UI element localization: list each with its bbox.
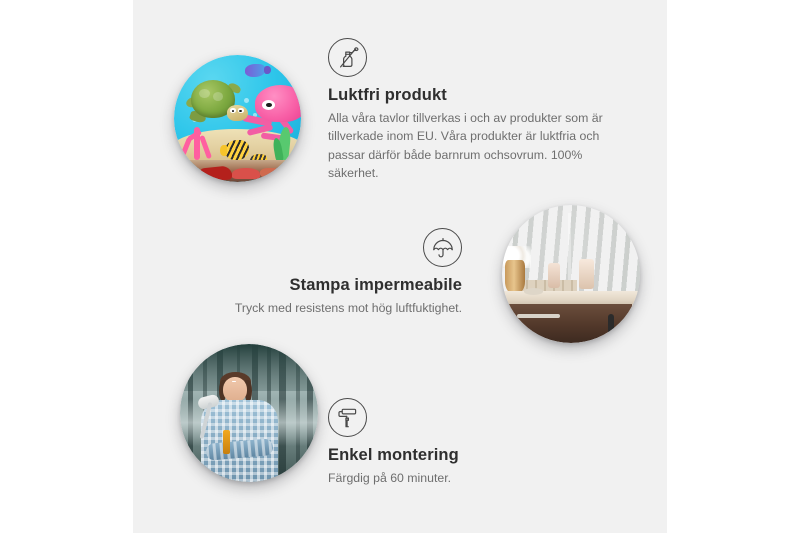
feature-stampa-impermeabile: Stampa impermeabile Tryck med resistens … — [212, 228, 462, 317]
sea-floor-object — [199, 165, 233, 182]
wood-vanity-cabinet — [508, 304, 632, 343]
feature-description: Färgdig på 60 minuter. — [328, 469, 588, 487]
screenshot-root: Luktfri produkt Alla våra tavlor tillver… — [0, 0, 800, 533]
face — [223, 377, 247, 403]
bathroom-vanity-photo-inner — [502, 205, 640, 343]
woman-paint-roller-forest-photo-inner — [180, 344, 318, 482]
smile — [232, 381, 235, 382]
turtle-eye — [238, 108, 243, 113]
sea-turtle — [188, 80, 246, 128]
bathroom-vanity-photo — [502, 205, 640, 343]
coral — [179, 124, 217, 162]
sea-floor-object — [260, 168, 280, 178]
bathroom-bottle — [579, 259, 594, 289]
feature-title: Stampa impermeabile — [212, 276, 462, 294]
no-fragrance-icon — [328, 38, 367, 77]
sea-floor-object — [232, 168, 260, 179]
soap-dish — [524, 288, 543, 295]
feature-description: Tryck med resistens mot hög luftfuktighe… — [212, 299, 462, 317]
octopus-head — [255, 85, 301, 122]
feature-title: Luktfri produkt — [328, 86, 624, 104]
cabinet-handle — [608, 314, 614, 343]
feature-title: Enkel montering — [328, 446, 588, 464]
turtle-head — [227, 105, 248, 120]
paint-roller-icon — [328, 398, 367, 437]
umbrella-icon — [423, 228, 462, 267]
feature-luktfri-produkt: Luktfri produkt Alla våra tavlor tillver… — [328, 38, 624, 182]
woman-figure — [199, 374, 279, 482]
gold-vase — [505, 260, 526, 293]
feature-enkel-montering: Enkel montering Färgdig på 60 minuter. — [328, 398, 588, 487]
feature-description: Alla våra tavlor tillverkas i och av pro… — [328, 109, 624, 182]
octopus — [248, 85, 301, 146]
underwater-cartoon-photo — [174, 55, 301, 182]
turtle-eye — [230, 108, 235, 113]
bathroom-bottle — [548, 263, 560, 288]
woman-paint-roller-forest-photo — [180, 344, 318, 482]
blue-fish — [245, 64, 265, 77]
underwater-cartoon-photo-inner — [174, 55, 301, 182]
handheld-tool — [223, 430, 229, 454]
octopus-eye — [262, 100, 275, 110]
